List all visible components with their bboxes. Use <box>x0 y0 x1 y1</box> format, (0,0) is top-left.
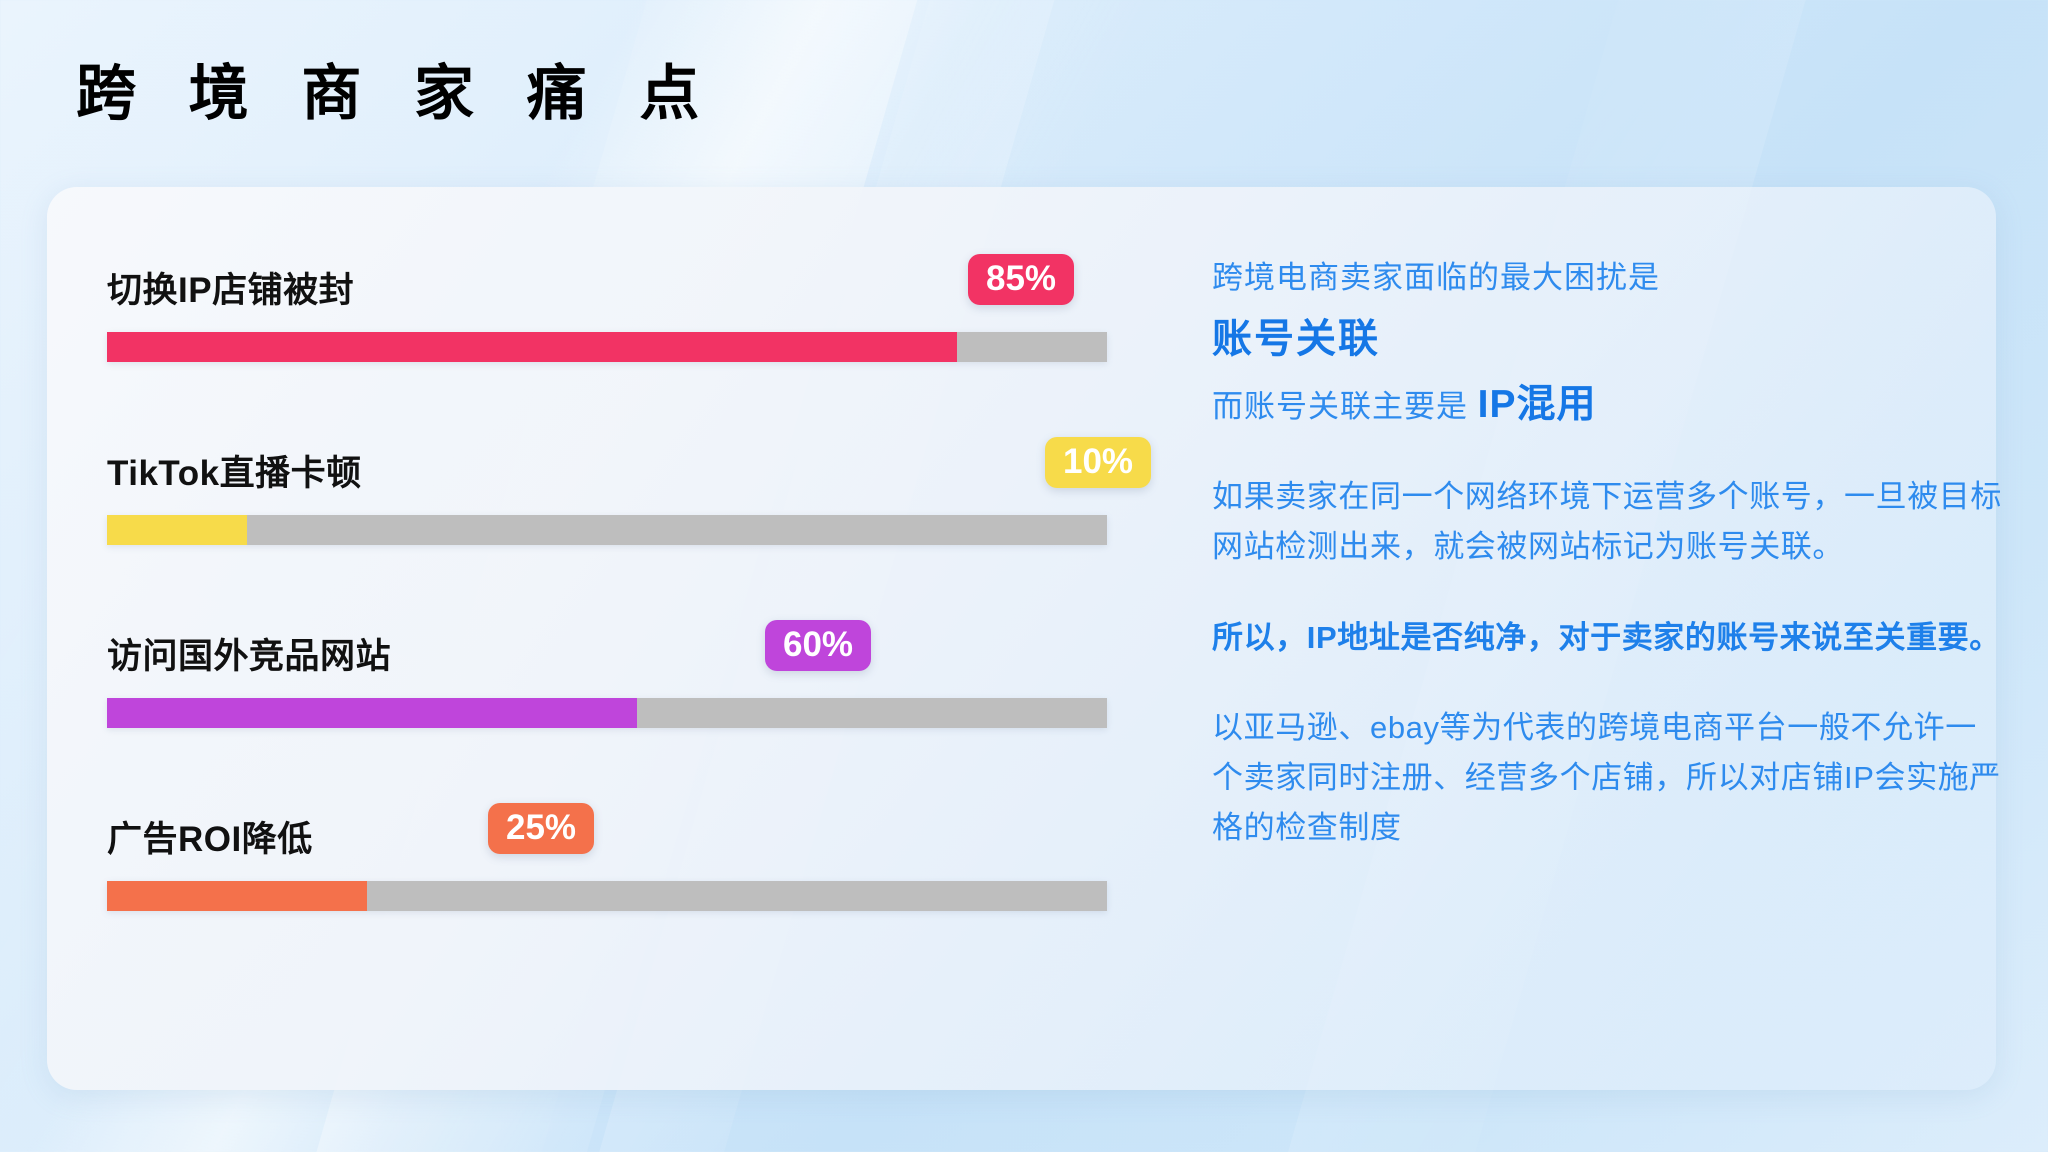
content-card: 切换IP店铺被封85%TikTok直播卡顿10%访问国外竞品网站60%广告ROI… <box>47 187 1996 1090</box>
bar-value-badge: 10% <box>1045 437 1151 488</box>
lead-line: 跨境电商卖家面临的最大困扰是 <box>1212 255 2002 302</box>
paragraph-three: 以亚马逊、ebay等为代表的跨境电商平台一般不允许一个卖家同时注册、经营多个店铺… <box>1212 703 2002 854</box>
bar-fill <box>107 698 637 728</box>
bar-track <box>107 332 1107 362</box>
bar-track <box>107 515 1107 545</box>
bar-group: 访问国外竞品网站60% <box>107 613 1167 728</box>
bar-group: 切换IP店铺被封85% <box>107 247 1167 362</box>
bar-value-badge: 85% <box>968 254 1074 305</box>
lead-headline: 账号关联 <box>1212 314 2002 364</box>
bar-header-row: 广告ROI降低25% <box>107 796 1167 862</box>
lead-subline: 而账号关联主要是 IP混用 <box>1212 378 2002 433</box>
bar-header-row: 访问国外竞品网站60% <box>107 613 1167 679</box>
bar-value-badge: 60% <box>765 620 871 671</box>
bar-fill <box>107 881 367 911</box>
bar-group: TikTok直播卡顿10% <box>107 430 1167 545</box>
paragraph-two: 所以，IP地址是否纯净，对于卖家的账号来说至关重要。 <box>1212 613 2002 663</box>
page-title: 跨 境 商 家 痛 点 <box>76 58 717 130</box>
lead-subline-highlight: IP混用 <box>1478 383 1597 426</box>
bar-header-row: 切换IP店铺被封85% <box>107 247 1167 313</box>
bar-label: 切换IP店铺被封 <box>107 262 354 313</box>
bar-fill <box>107 515 247 545</box>
bar-value-badge: 25% <box>488 803 594 854</box>
explanation-panel: 跨境电商卖家面临的最大困扰是 账号关联 而账号关联主要是 IP混用 如果卖家在同… <box>1212 187 2002 853</box>
bar-fill <box>107 332 957 362</box>
bar-group: 广告ROI降低25% <box>107 796 1167 911</box>
bar-track <box>107 881 1107 911</box>
bar-label: 访问国外竞品网站 <box>107 628 391 679</box>
bar-label: 广告ROI降低 <box>107 811 313 862</box>
bar-header-row: TikTok直播卡顿10% <box>107 430 1167 496</box>
pain-point-bar-chart: 切换IP店铺被封85%TikTok直播卡顿10%访问国外竞品网站60%广告ROI… <box>107 247 1167 911</box>
bar-label: TikTok直播卡顿 <box>107 445 362 496</box>
lead-subline-prefix: 而账号关联主要是 <box>1212 389 1478 424</box>
paragraph-one: 如果卖家在同一个网络环境下运营多个账号，一旦被目标网站检测出来，就会被网站标记为… <box>1212 472 2002 572</box>
bar-track <box>107 698 1107 728</box>
